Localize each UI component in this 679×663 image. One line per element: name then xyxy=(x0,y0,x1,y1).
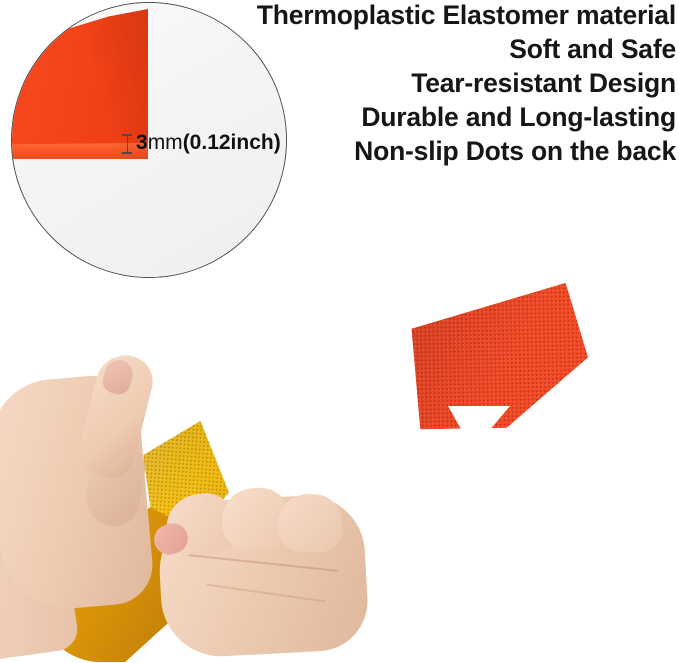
feature-line-non-slip-dots: Non-slip Dots on the back xyxy=(206,134,676,168)
product-image-canvas: 3mm(0.12inch) Thermoplastic Elastomer ma… xyxy=(0,0,679,659)
feature-line-durable: Durable and Long-lasting xyxy=(206,100,676,134)
right-hand xyxy=(148,488,386,660)
caliper-bar xyxy=(127,135,129,153)
hands-stretch-demo xyxy=(22,348,382,659)
red-mat-photo xyxy=(396,268,679,659)
thickness-metric-unit: mm xyxy=(148,131,183,154)
thickness-caliper-icon xyxy=(122,133,132,155)
feature-line-tear-resistant: Tear-resistant Design xyxy=(206,66,676,100)
feature-line-material: Thermoplastic Elastomer material xyxy=(206,0,676,32)
thickness-metric-value: 3 xyxy=(136,131,148,154)
caliper-bottom-cap xyxy=(122,152,132,154)
feature-list: Thermoplastic Elastomer material Soft an… xyxy=(206,0,676,168)
right-hand-finger-3 xyxy=(277,492,344,553)
feature-line-soft-safe: Soft and Safe xyxy=(206,32,676,66)
